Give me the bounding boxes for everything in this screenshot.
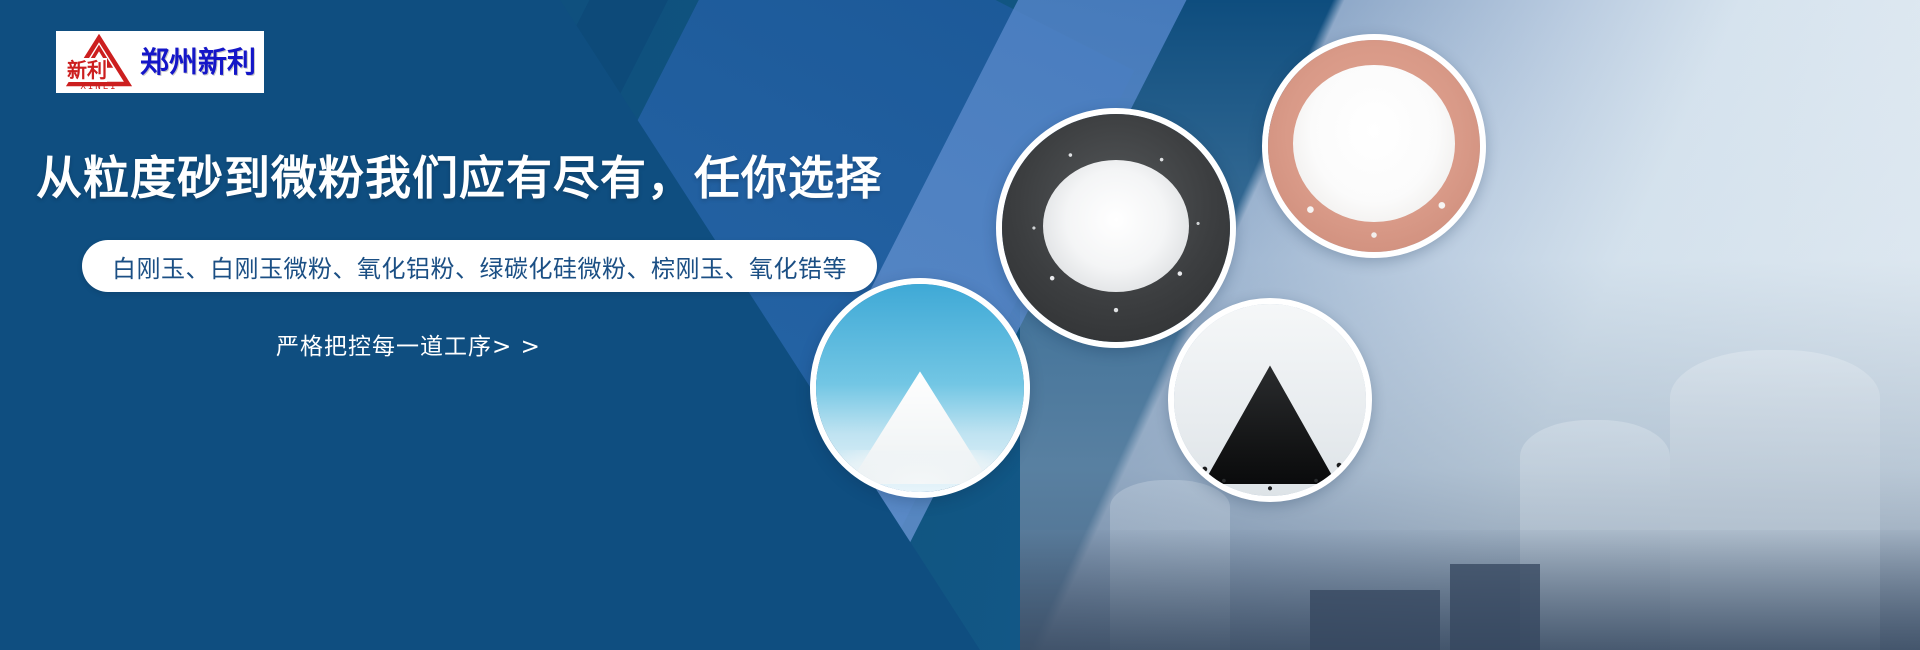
product-tray-salmon [1268,40,1480,252]
product-grains [1174,304,1366,496]
product-backdrop-white [1174,304,1366,496]
xinli-triangle-mark-icon: 新利 XINLI [66,34,132,90]
city-skyline [1020,530,1920,650]
product-circle-white-alumina-micropowder[interactable] [1262,34,1486,258]
process-quality-link[interactable]: 严格把控每一道工序> > [276,327,541,361]
hero-banner: 新利 XINLI 郑州新利 从粒度砂到微粉我们应有尽有，任你选择 白刚玉、白刚玉… [0,0,1920,650]
product-grains [1268,40,1480,252]
company-logo[interactable]: 新利 XINLI 郑州新利 [56,31,264,93]
product-list-badge: 白刚玉、白刚玉微粉、氧化铝粉、绿碳化硅微粉、棕刚玉、氧化锆等 [82,240,877,292]
svg-text:新利: 新利 [67,58,107,82]
company-name: 郑州新利 [140,48,256,77]
product-circle-white-powder-heap-sky[interactable] [810,278,1030,498]
product-list-text: 白刚玉、白刚玉微粉、氧化铝粉、绿碳化硅微粉、棕刚玉、氧化锆等 [112,249,847,284]
product-cone-base [837,450,1003,483]
svg-text:XINLI: XINLI [80,82,117,90]
product-backdrop-sky [816,284,1024,492]
product-circle-black-silicon-carbide[interactable] [1168,298,1372,502]
page-title: 从粒度砂到微粉我们应有尽有，任你选择 [36,142,882,208]
